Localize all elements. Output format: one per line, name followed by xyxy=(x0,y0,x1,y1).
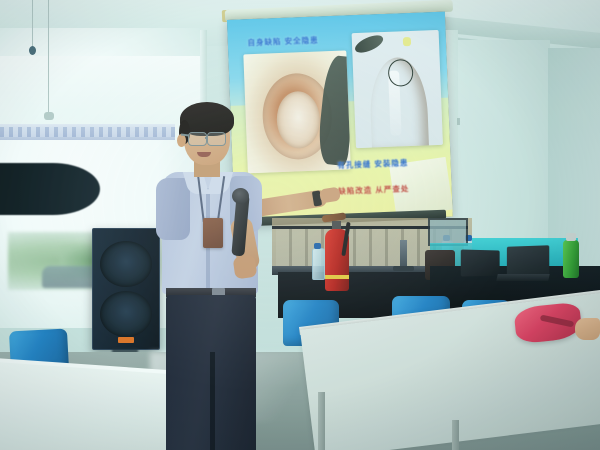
yellow-marker xyxy=(403,37,411,46)
glasses-bridge xyxy=(205,137,208,139)
laptop-primary xyxy=(507,245,549,277)
presenter-mic-hand xyxy=(233,255,258,280)
trouser-leg-seam xyxy=(210,352,215,450)
id-badge xyxy=(203,218,223,248)
table-leg-right xyxy=(318,392,325,450)
pendant-cord-left xyxy=(32,0,33,48)
extinguisher-band xyxy=(325,275,349,279)
foreground-dark-object xyxy=(0,163,100,215)
speaker-woofer-bottom xyxy=(100,291,152,337)
wall-mark xyxy=(457,118,460,125)
green-thermos xyxy=(563,240,579,278)
glasses-lens-left xyxy=(188,132,207,146)
presenter-sleeve-left xyxy=(156,178,190,240)
pendant-light-right xyxy=(44,112,54,120)
speaker-woofer-top xyxy=(100,241,152,287)
pendant-cord-right xyxy=(48,0,49,115)
foreground-hand xyxy=(575,318,600,340)
table-stand-base xyxy=(393,266,414,271)
pendant-light-left xyxy=(29,46,36,55)
water-bottle-cap-1 xyxy=(314,243,321,249)
cylinder-dark-band xyxy=(316,54,350,166)
dark-hook-object xyxy=(353,32,385,56)
table-leg-right-2 xyxy=(452,420,459,450)
photo-scene: 自身缺陷 安全隐患 有孔接缝 安装隐患 缺陷改造 从严查处 xyxy=(0,0,600,450)
wall-picture-frame xyxy=(428,218,468,246)
window-valance xyxy=(0,124,175,140)
slide-photo-right xyxy=(352,30,444,148)
presenter xyxy=(150,96,285,450)
laptop-keyboard-base xyxy=(496,274,549,281)
presenter-ear xyxy=(177,134,186,147)
water-bottle-1 xyxy=(312,248,325,280)
thermos-cap xyxy=(566,233,576,241)
glasses-lens-right xyxy=(207,132,226,146)
speaker-brand-badge xyxy=(118,337,134,343)
laptop-secondary xyxy=(461,249,500,276)
